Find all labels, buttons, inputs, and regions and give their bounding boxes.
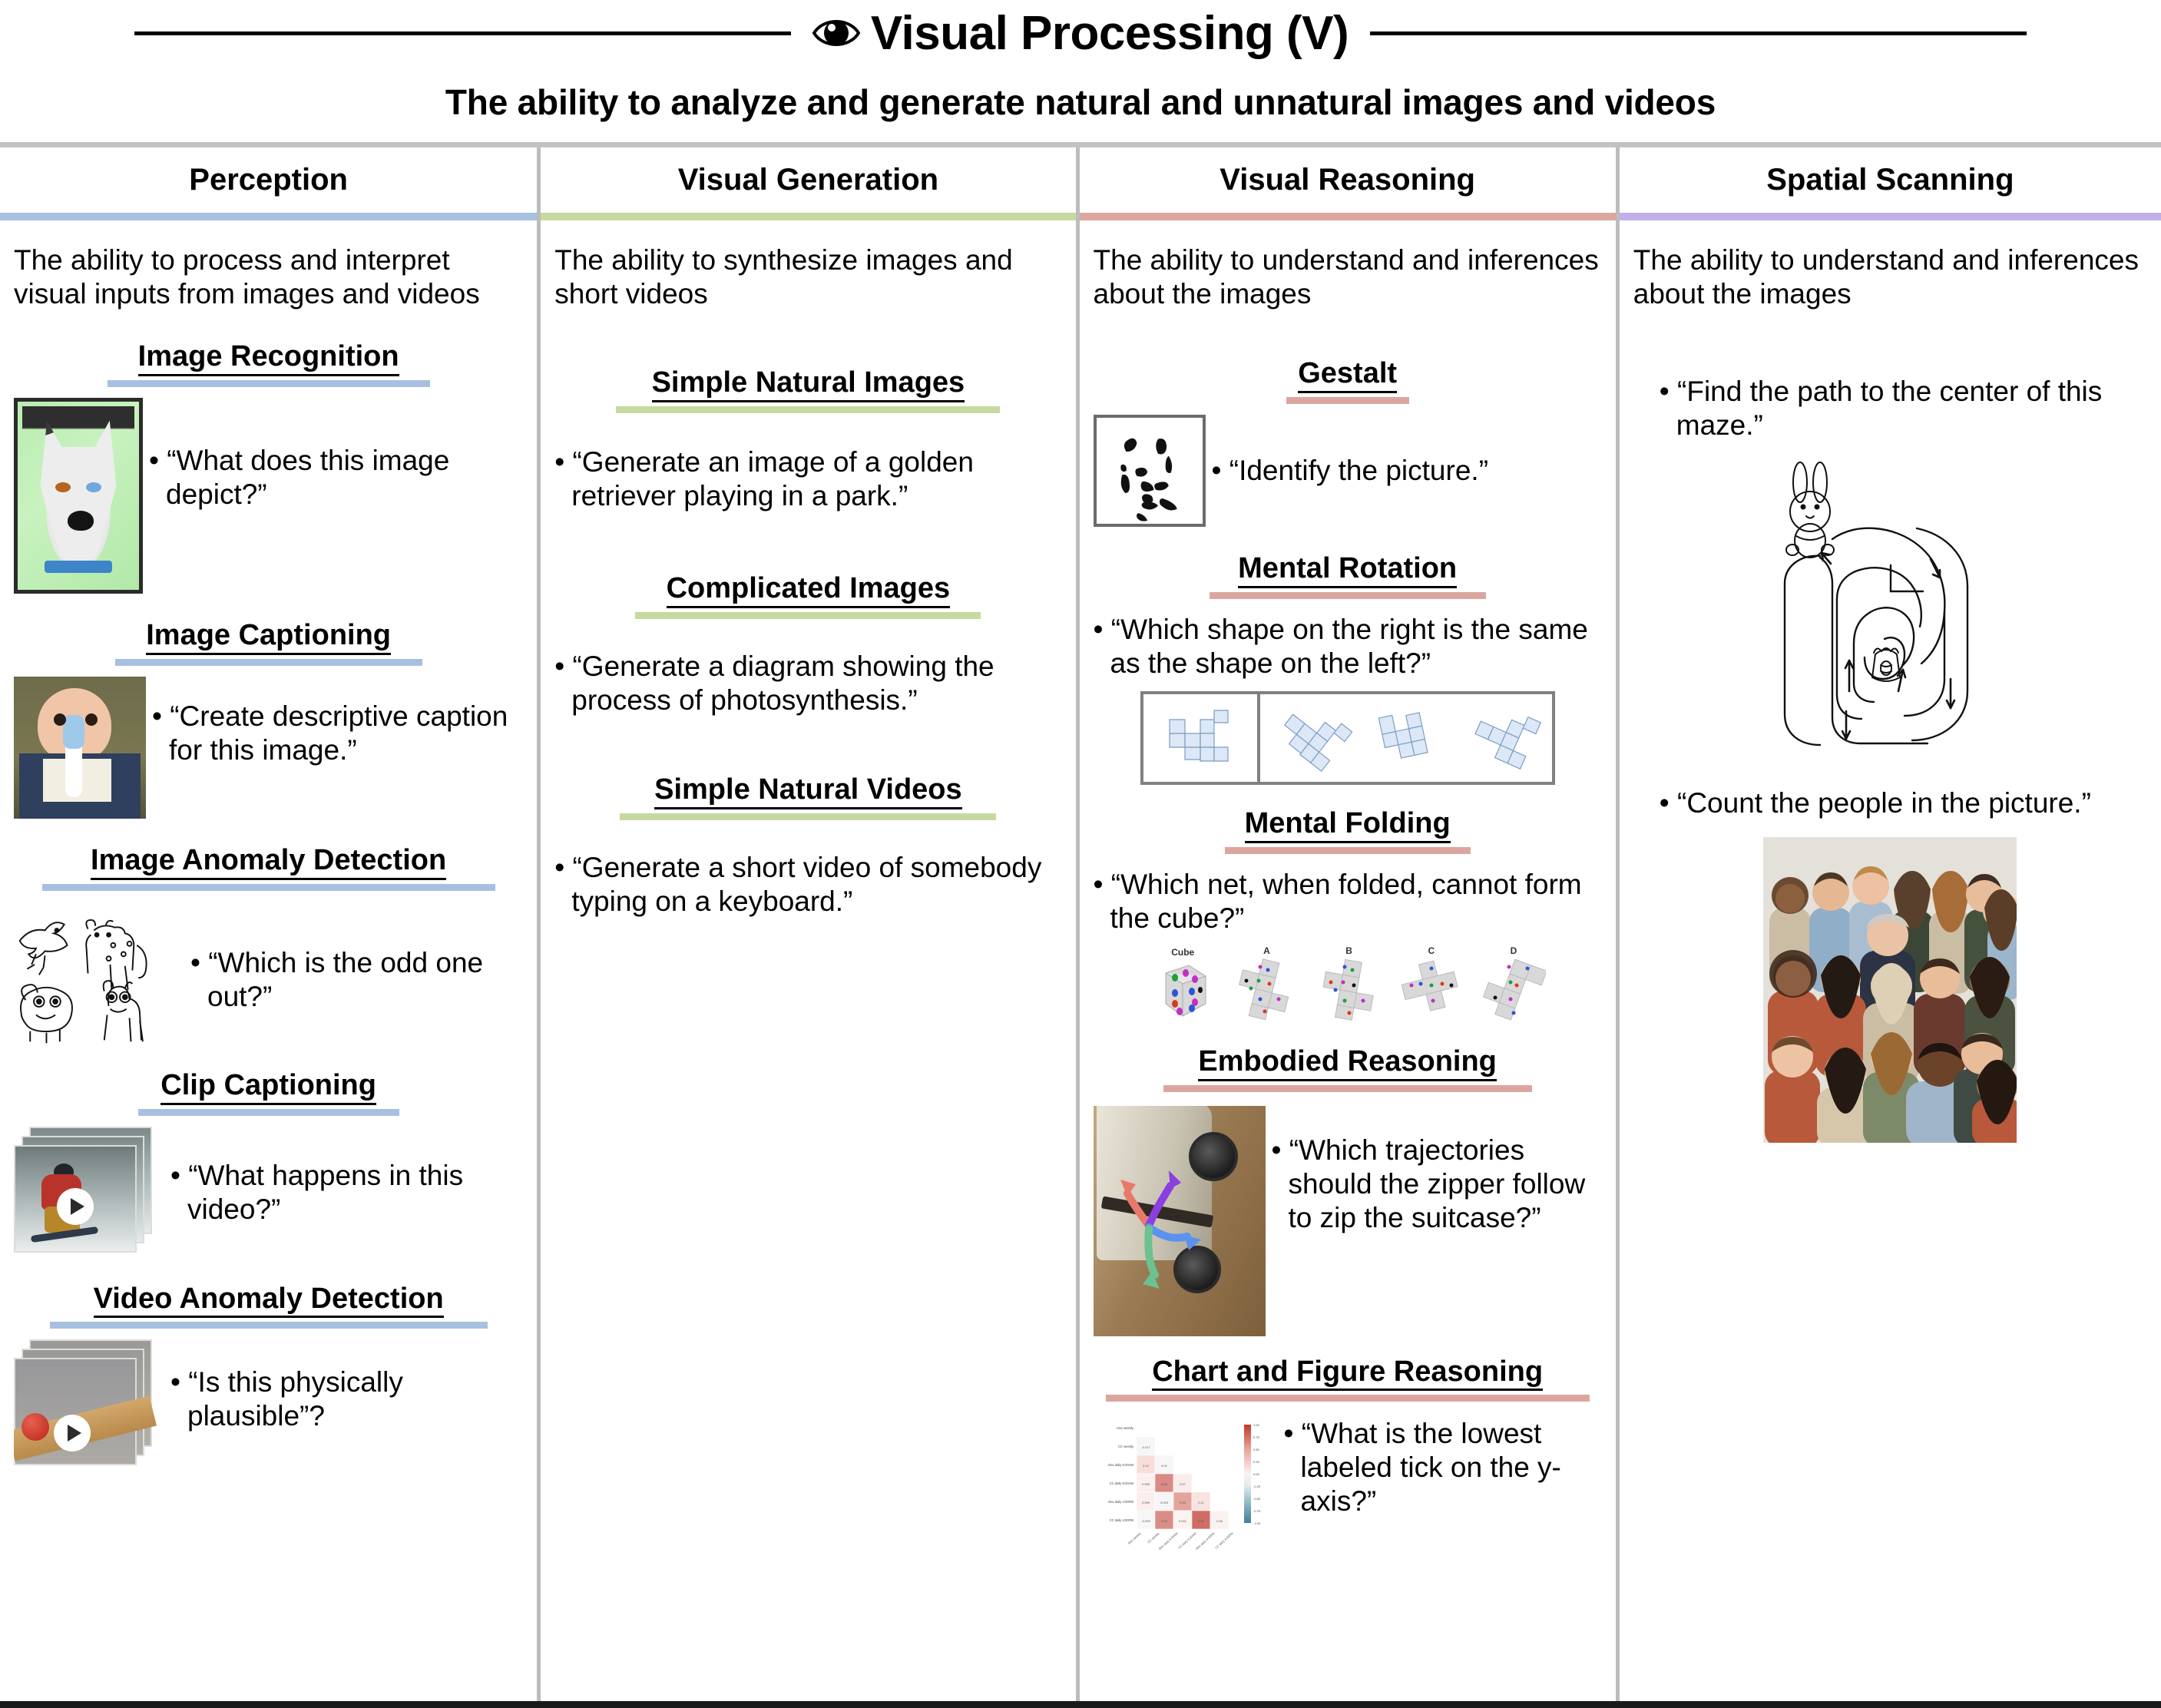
snowboarder-video-clip-image xyxy=(14,1127,164,1262)
section-title: Image Captioning xyxy=(146,620,391,655)
bunny-maze-image xyxy=(1740,449,2040,756)
column-perception: Perception The ability to process and in… xyxy=(0,147,537,1703)
section-embodied-reasoning: Embodied Reasoning xyxy=(1094,1046,1602,1092)
svg-text:-0.017: -0.017 xyxy=(1141,1445,1150,1449)
svg-text:CC daily 9:30AM: CC daily 9:30AM xyxy=(1177,1531,1197,1550)
section-title: Image Recognition xyxy=(138,341,399,376)
husky-stained-glass-image xyxy=(14,398,143,594)
gestalt-fragmented-figure-image xyxy=(1094,415,1206,527)
trajectory-arrows-icon xyxy=(1094,1106,1266,1336)
prompt-text: “Which shape on the right is the same as… xyxy=(1094,613,1602,680)
example-image-anomaly-detection: “Which is the odd one out?” xyxy=(14,902,523,1044)
prompt-text: “Create descriptive caption for this ima… xyxy=(152,700,523,767)
section-underline xyxy=(108,380,430,387)
section-title: Mental Folding xyxy=(1245,808,1451,843)
play-icon xyxy=(57,1188,94,1225)
svg-text:CC weekly: CC weekly xyxy=(1118,1445,1134,1448)
group-of-people-image xyxy=(1763,837,2017,1143)
ball-ramp-video-clip-image xyxy=(14,1339,164,1475)
bunny-icon xyxy=(1786,462,1834,558)
column-description-spatial-scanning: The ability to understand and inferences… xyxy=(1633,243,2147,310)
svg-text:-1.00: -1.00 xyxy=(1253,1521,1261,1525)
section-underline xyxy=(1106,1395,1590,1402)
prompt-text: “Generate a diagram showing the process … xyxy=(554,650,1061,717)
svg-text:Alex weekly: Alex weekly xyxy=(1127,1531,1141,1545)
prompt-text: “Is this physically plausible”? xyxy=(170,1365,523,1433)
section-chart-figure-reasoning: Chart and Figure Reasoning xyxy=(1094,1356,1602,1402)
page-title: Visual Processing (V) xyxy=(812,6,1349,61)
column-description-perception: The ability to process and interpret vis… xyxy=(14,243,523,310)
svg-text:CC daily 9:30AM: CC daily 9:30AM xyxy=(1109,1481,1133,1485)
section-title: Clip Captioning xyxy=(161,1070,376,1105)
svg-text:0.64: 0.64 xyxy=(1198,1519,1205,1523)
section-underline xyxy=(138,1109,399,1116)
section-simple-natural-videos: Simple Natural Videos xyxy=(554,774,1061,820)
svg-text:CC daily 4:00PM: CC daily 4:00PM xyxy=(1214,1531,1234,1550)
accent-bar-visual-reasoning xyxy=(1080,213,1616,220)
svg-text:-0.50: -0.50 xyxy=(1253,1497,1261,1501)
svg-text:0.53: 0.53 xyxy=(1161,1519,1168,1523)
svg-text:0.25: 0.25 xyxy=(1253,1460,1260,1464)
prompt-text: “Identify the picture.” xyxy=(1212,454,1602,488)
svg-text:CC weekly: CC weekly xyxy=(1147,1531,1160,1544)
play-icon xyxy=(54,1415,91,1451)
prompt-text: “Generate an image of a golden retriever… xyxy=(554,445,1061,513)
example-image-recognition: “What does this image depict?” xyxy=(14,398,523,594)
section-underline xyxy=(42,884,495,891)
column-header-spatial-scanning: Spatial Scanning xyxy=(1620,147,2161,213)
svg-text:0.11: 0.11 xyxy=(1198,1501,1204,1504)
svg-text:0.75: 0.75 xyxy=(1253,1435,1260,1439)
accent-bar-perception xyxy=(0,213,537,220)
section-title: Simple Natural Images xyxy=(652,367,965,402)
section-image-captioning: Image Captioning xyxy=(14,620,523,666)
header-divider-rule xyxy=(0,142,2161,147)
prompt-text: “Generate a short video of somebody typi… xyxy=(554,851,1061,919)
section-title: Simple Natural Videos xyxy=(654,774,962,809)
svg-text:0.12: 0.12 xyxy=(1143,1464,1150,1468)
column-header-perception: Perception xyxy=(0,147,537,213)
prompt-text: “What does this image depict?” xyxy=(149,444,523,511)
example-chart-figure-reasoning: Alex weekly CC weekly Alex daily 9:30AM … xyxy=(1094,1412,1602,1551)
section-complicated-images: Complicated Images xyxy=(554,573,1061,619)
title-row: Visual Processing (V) xyxy=(0,0,2161,60)
prompt-text: “Which trajectories should the zipper fo… xyxy=(1272,1134,1602,1235)
example-image-captioning: “Create descriptive caption for this ima… xyxy=(14,677,523,819)
example-embodied-reasoning: “Which trajectories should the zipper fo… xyxy=(1094,1106,1602,1336)
net-label: A xyxy=(1234,945,1299,956)
section-title: Mental Rotation xyxy=(1238,553,1457,588)
svg-text:0.02: 0.02 xyxy=(1161,1464,1168,1468)
svg-text:0.059: 0.059 xyxy=(1142,1482,1150,1486)
column-visual-reasoning: Visual Reasoning The ability to understa… xyxy=(1080,147,1616,1703)
section-underline xyxy=(1210,592,1486,599)
section-image-anomaly-detection: Image Anomaly Detection xyxy=(14,845,523,891)
footer-rule xyxy=(0,1701,2161,1708)
cube-nets-puzzle-image: Cube A xyxy=(1140,942,1555,1026)
prompt-text: “Which is the odd one out?” xyxy=(190,946,523,1014)
section-underline xyxy=(616,406,1000,413)
svg-text:Alex daily 9:30AM: Alex daily 9:30AM xyxy=(1107,1463,1133,1467)
section-title: Complicated Images xyxy=(667,573,951,608)
svg-text:0.099: 0.099 xyxy=(1142,1501,1150,1504)
section-underline xyxy=(115,659,422,666)
column-visual-generation: Visual Generation The ability to synthes… xyxy=(541,147,1075,1703)
example-gestalt: “Identify the picture.” xyxy=(1094,415,1602,527)
svg-text:0.00: 0.00 xyxy=(1253,1472,1260,1476)
section-title: Video Anomaly Detection xyxy=(94,1283,444,1319)
prompt-text: “Count the people in the picture.” xyxy=(1660,786,2147,820)
section-title: Gestalt xyxy=(1298,358,1397,393)
section-mental-rotation: Mental Rotation xyxy=(1094,553,1602,599)
section-underline xyxy=(50,1322,488,1329)
svg-text:-0.25: -0.25 xyxy=(1253,1485,1261,1488)
svg-text:0.031: 0.031 xyxy=(1179,1519,1187,1523)
svg-text:1.00: 1.00 xyxy=(1253,1423,1260,1427)
svg-text:Alex daily 4:00PM: Alex daily 4:00PM xyxy=(1107,1500,1133,1504)
page-subtitle: The ability to analyze and generate natu… xyxy=(0,81,2161,123)
svg-text:Alex daily 9:30AM: Alex daily 9:30AM xyxy=(1157,1531,1178,1551)
page-title-text: Visual Processing (V) xyxy=(871,6,1349,61)
section-image-recognition: Image Recognition xyxy=(14,341,523,387)
correlation-heatmap-thumbnail: Alex weekly CC weekly Alex daily 9:30AM … xyxy=(1094,1412,1278,1551)
section-video-anomaly-detection: Video Anomaly Detection xyxy=(14,1283,523,1329)
example-video-anomaly-detection: “Is this physically plausible”? xyxy=(14,1339,523,1475)
net-label: C xyxy=(1399,945,1464,956)
baby-toothbrush-image xyxy=(14,677,146,819)
prompt-text: “What happens in this video?” xyxy=(170,1159,523,1226)
column-description-visual-generation: The ability to synthesize images and sho… xyxy=(554,243,1061,310)
svg-text:0.34: 0.34 xyxy=(1180,1501,1186,1504)
svg-text:0.07: 0.07 xyxy=(1180,1482,1186,1486)
column-header-visual-generation: Visual Generation xyxy=(541,147,1075,213)
net-label: Cube xyxy=(1149,947,1216,958)
net-label: D xyxy=(1481,945,1546,956)
section-underline xyxy=(635,612,981,619)
section-underline xyxy=(1225,847,1471,854)
svg-text:0.50: 0.50 xyxy=(1253,1448,1260,1451)
section-title: Chart and Figure Reasoning xyxy=(1152,1356,1543,1392)
section-gestalt: Gestalt xyxy=(1094,358,1602,404)
net-label: B xyxy=(1317,945,1382,956)
section-mental-folding: Mental Folding xyxy=(1094,808,1602,854)
column-spatial-scanning: Spatial Scanning The ability to understa… xyxy=(1620,147,2161,1703)
svg-text:-0.005: -0.005 xyxy=(1141,1519,1150,1523)
svg-text:-0.75: -0.75 xyxy=(1253,1509,1261,1513)
section-underline xyxy=(1163,1085,1532,1092)
section-clip-captioning: Clip Captioning xyxy=(14,1070,523,1116)
mental-rotation-puzzle-image xyxy=(1140,691,1555,785)
prompt-text: “Which net, when folded, cannot form the… xyxy=(1094,868,1602,935)
svg-text:CC daily 4:00PM: CC daily 4:00PM xyxy=(1109,1518,1133,1522)
svg-text:Alex daily 4:00PM: Alex daily 4:00PM xyxy=(1194,1531,1215,1551)
prompt-text: “What is the lowest labeled tick on the … xyxy=(1284,1417,1602,1518)
section-simple-natural-images: Simple Natural Images xyxy=(554,367,1061,413)
animal-line-drawings-image xyxy=(14,902,184,1044)
svg-text:0.55: 0.55 xyxy=(1161,1482,1168,1486)
svg-text:0.06: 0.06 xyxy=(1216,1519,1223,1523)
section-underline xyxy=(1286,397,1409,404)
svg-text:Alex weekly: Alex weekly xyxy=(1116,1426,1133,1430)
column-header-visual-reasoning: Visual Reasoning xyxy=(1080,147,1616,213)
example-clip-captioning: “What happens in this video?” xyxy=(14,1127,523,1262)
capability-grid: Perception The ability to process and in… xyxy=(0,147,2161,1703)
accent-bar-visual-generation xyxy=(541,213,1075,220)
treasure-bag-icon xyxy=(1872,648,1900,681)
section-title: Image Anomaly Detection xyxy=(91,845,446,880)
prompt-text: “Find the path to the center of this maz… xyxy=(1660,375,2147,442)
eye-icon xyxy=(812,16,860,50)
title-rule-left xyxy=(134,31,791,35)
column-description-visual-reasoning: The ability to understand and inferences… xyxy=(1094,243,1602,310)
suitcase-zipper-image xyxy=(1094,1106,1266,1336)
accent-bar-spatial-scanning xyxy=(1620,213,2161,220)
svg-text:0.025: 0.025 xyxy=(1160,1501,1169,1504)
section-underline xyxy=(620,813,996,820)
title-rule-right xyxy=(1370,31,2027,35)
section-title: Embodied Reasoning xyxy=(1198,1046,1496,1081)
